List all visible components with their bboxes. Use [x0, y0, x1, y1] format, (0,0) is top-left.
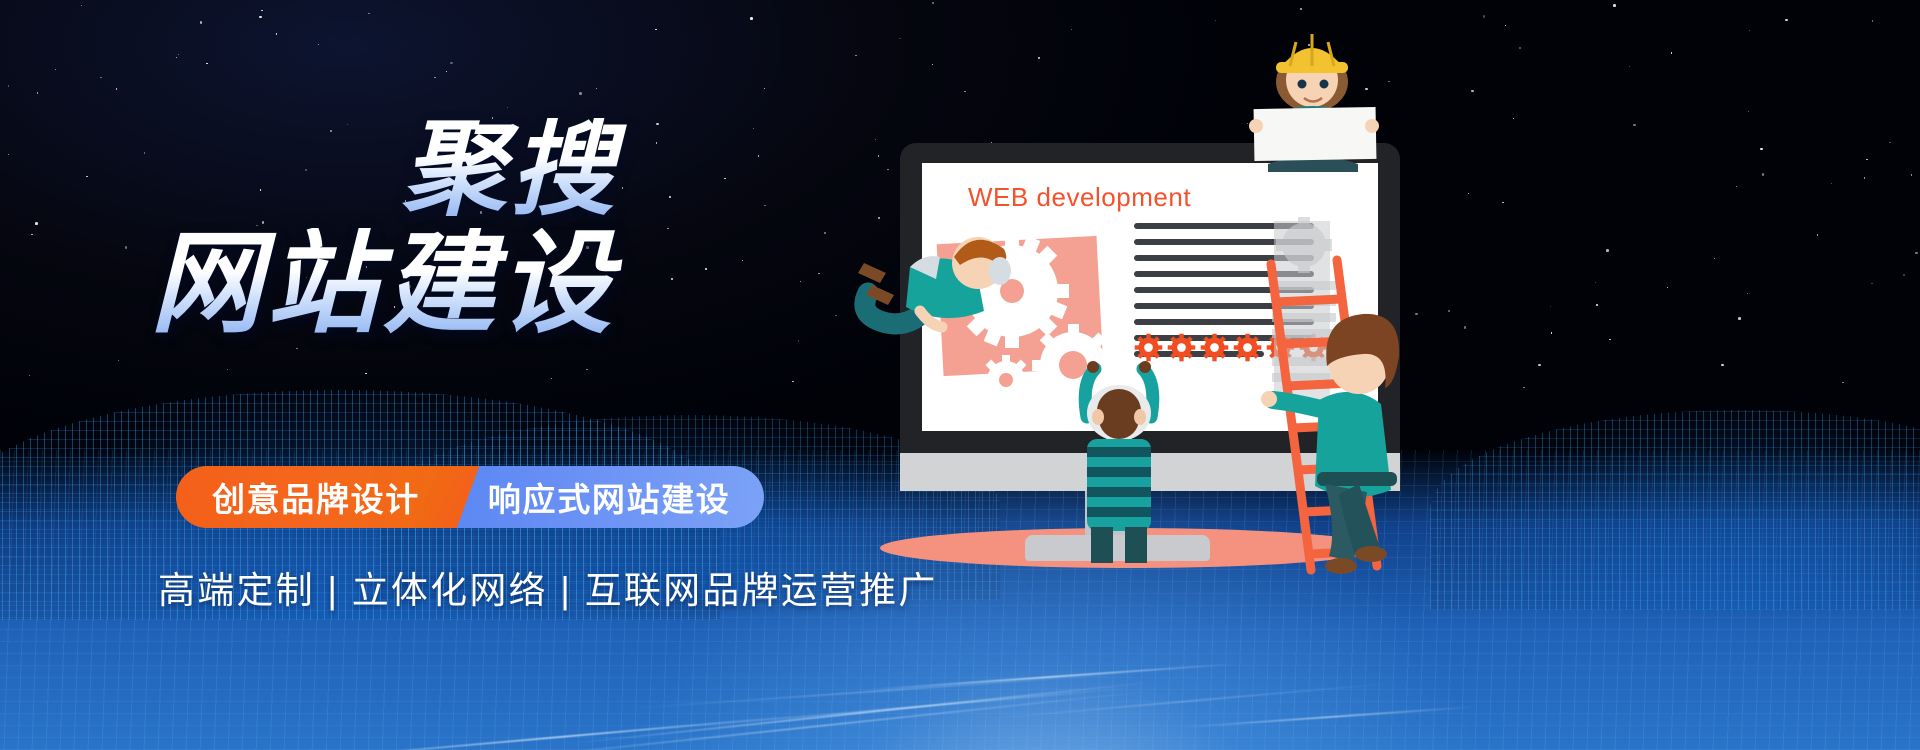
hero-banner: 聚搜 网站建设 创意品牌设计 响应式网站建设 高端定制 | 立体化网络 | 互联… — [0, 0, 1920, 750]
pill-responsive-web-build[interactable]: 响应式网站建设 — [444, 466, 765, 528]
engineer-with-hardhat — [1240, 22, 1360, 152]
hero-illustration: WEB development — [840, 0, 1920, 750]
page-title: 聚搜 网站建设 — [150, 118, 850, 340]
child-lifting-poster — [1065, 355, 1155, 550]
hero-copy: 聚搜 网站建设 创意品牌设计 响应式网站建设 高端定制 | 立体化网络 | 互联… — [0, 0, 880, 750]
worker-hanging-left — [850, 215, 1015, 325]
pill-creative-brand-design[interactable]: 创意品牌设计 — [176, 466, 446, 528]
service-pill-group: 创意品牌设计 响应式网站建设 — [176, 466, 764, 528]
hardhat-icon — [1276, 34, 1348, 112]
headline-line-1: 聚搜 — [150, 118, 850, 222]
gear-icon — [1200, 333, 1229, 362]
hero-tagline: 高端定制 | 立体化网络 | 互联网品牌运营推广 — [158, 560, 938, 614]
worker-on-ladder — [1255, 258, 1405, 558]
headline-line-2: 网站建设 — [150, 228, 850, 340]
screen-heading: WEB development — [968, 182, 1191, 213]
